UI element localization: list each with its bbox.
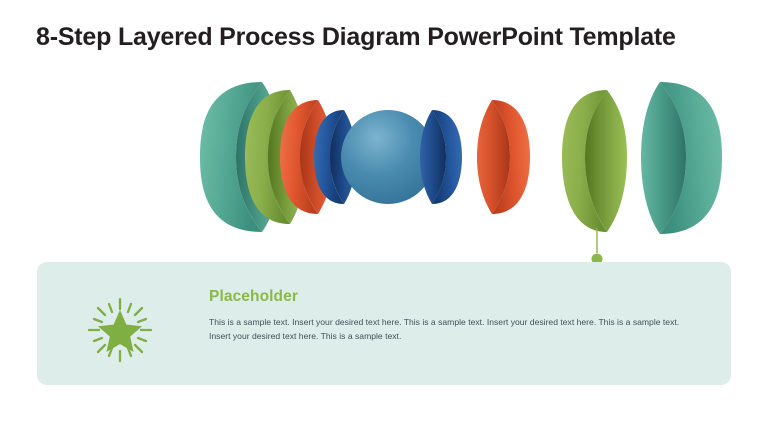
layer-blue-right [420,110,462,204]
layer-orange-right [477,100,530,214]
panel-body-text: This is a sample text. Insert your desir… [209,316,689,344]
layer-green-detached [562,90,627,232]
layer-teal-detached [632,80,741,234]
star-sparkle-icon [86,296,154,364]
panel-heading: Placeholder [209,288,689,306]
page-title: 8-Step Layered Process Diagram PowerPoin… [36,23,736,52]
exploded-layered-sphere-diagram [0,62,768,252]
panel-text-block: Placeholder This is a sample text. Inser… [209,288,689,344]
slide-canvas: 8-Step Layered Process Diagram PowerPoin… [0,0,768,432]
